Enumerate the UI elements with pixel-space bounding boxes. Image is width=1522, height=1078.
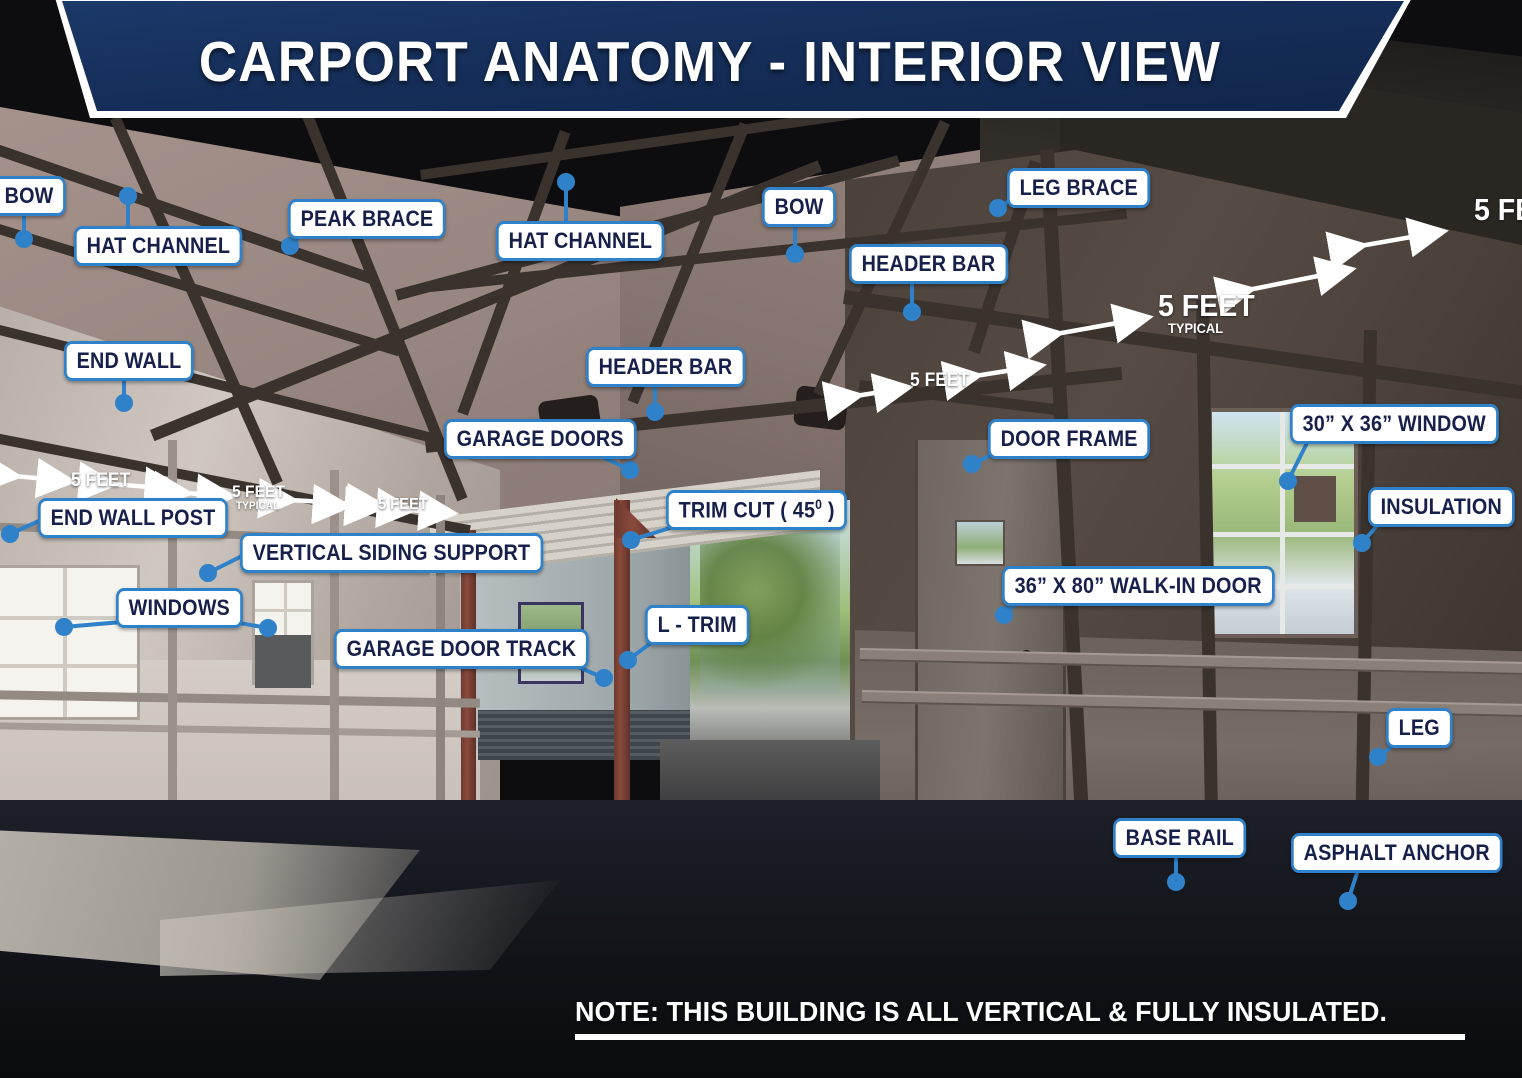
carport-interior-photo xyxy=(0,0,1522,1078)
callout-hat-channel-left[interactable]: HAT CHANNEL xyxy=(74,226,243,266)
callout-walk-in-door[interactable]: 36” X 80” WALK-IN DOOR xyxy=(1002,566,1274,606)
callout-leg-brace[interactable]: LEG BRACE xyxy=(1007,168,1150,208)
degree-symbol-icon: 0 xyxy=(815,497,822,512)
page-title: CARPORT ANATOMY - INTERIOR VIEW xyxy=(50,0,1371,124)
door-vent-window xyxy=(955,520,1005,566)
note-underline xyxy=(575,1034,1465,1040)
dim-label-right-3: 5 FE xyxy=(1474,192,1522,228)
callout-hat-channel-center[interactable]: HAT CHANNEL xyxy=(496,221,665,261)
callout-windows[interactable]: WINDOWS xyxy=(116,588,243,628)
dim-sub-left-2: TYPICAL xyxy=(236,500,279,512)
end-wall-post-photo xyxy=(168,440,177,820)
callout-asphalt-anchor[interactable]: ASPHALT ANCHOR xyxy=(1291,833,1502,873)
callout-vertical-siding-support[interactable]: VERTICAL SIDING SUPPORT xyxy=(240,533,543,573)
dim-label-left-3: 5 FEET xyxy=(378,496,428,514)
callout-trim-cut[interactable]: TRIM CUT ( 450 ) xyxy=(666,490,847,530)
carport-anatomy-diagram: 5 FEET 5 FEET TYPICAL 5 FEET 5 FEET 5 FE… xyxy=(0,0,1522,1078)
l-trim-post-right xyxy=(614,500,630,830)
callout-insulation[interactable]: INSULATION xyxy=(1368,487,1515,527)
note-block: NOTE: THIS BUILDING IS ALL VERTICAL & FU… xyxy=(575,996,1465,1040)
dim-label-left-1: 5 FEET xyxy=(71,470,130,492)
callout-garage-doors[interactable]: GARAGE DOORS xyxy=(444,419,636,459)
callout-trim-cut-tail: ) xyxy=(822,497,834,522)
window-left-2 xyxy=(252,580,314,685)
callout-garage-door-track[interactable]: GARAGE DOOR TRACK xyxy=(334,629,589,669)
callout-end-wall-post[interactable]: END WALL POST xyxy=(38,498,228,538)
callout-peak-brace[interactable]: PEAK BRACE xyxy=(288,199,446,239)
callout-trim-cut-text: TRIM CUT ( 45 xyxy=(679,497,816,522)
callout-header-bar-right[interactable]: HEADER BAR xyxy=(849,244,1008,284)
l-trim-post-left xyxy=(461,530,476,820)
callout-end-wall[interactable]: END WALL xyxy=(64,341,194,381)
callout-bow-center[interactable]: BOW xyxy=(762,187,836,227)
dim-label-right-1: 5 FEET xyxy=(910,370,969,392)
callout-window-30x36[interactable]: 30” X 36” WINDOW xyxy=(1290,404,1499,444)
dim-sub-right-2: TYPICAL xyxy=(1168,320,1223,336)
dim-label-left-2: 5 FEET xyxy=(232,482,285,502)
callout-door-frame[interactable]: DOOR FRAME xyxy=(988,419,1150,459)
note-text: NOTE: THIS BUILDING IS ALL VERTICAL & FU… xyxy=(575,996,1429,1028)
callout-bow-left[interactable]: BOW xyxy=(0,176,66,216)
callout-leg[interactable]: LEG xyxy=(1386,708,1452,748)
dim-label-right-2: 5 FEET xyxy=(1158,288,1255,324)
callout-header-bar-center[interactable]: HEADER BAR xyxy=(586,347,745,387)
callout-l-trim[interactable]: L - TRIM xyxy=(645,605,749,645)
callout-base-rail[interactable]: BASE RAIL xyxy=(1113,818,1247,858)
